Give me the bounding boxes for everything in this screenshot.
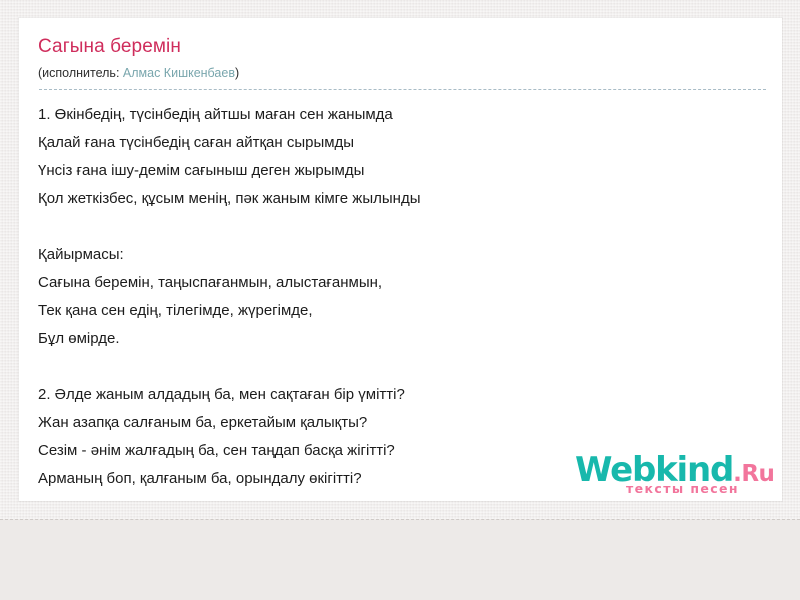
lyrics-line: Жан азапқа салғаным ба, еркетайым қалықт… <box>38 409 766 437</box>
lyrics-line: 2. Әлде жаным алдадың ба, мен сақтаған б… <box>38 381 766 409</box>
lyrics-line: Бұл өмірде. <box>38 325 766 353</box>
performer-line: (исполнитель: Алмас Кишкенбаев) <box>38 65 766 81</box>
lower-background-band <box>0 519 800 600</box>
lyrics-line: Қалай ғана түсінбедің саған айтқан сырым… <box>38 129 766 157</box>
lyrics-line: 1. Өкінбедің, түсінбедің айтшы маған сен… <box>38 101 766 129</box>
lyrics-line: Қол жеткізбес, құсым менің, пәк жаным кі… <box>38 185 766 213</box>
lyrics-page-panel: Сагына беремін (исполнитель: Алмас Кишке… <box>19 18 782 501</box>
lyrics-line: Қайырмасы: <box>38 241 766 269</box>
performer-prefix-label: (исполнитель: <box>38 66 123 80</box>
lyrics-blank-line <box>38 353 766 381</box>
panel-content: Сагына беремін (исполнитель: Алмас Кишке… <box>38 34 766 501</box>
page-title: Сагына беремін <box>38 34 766 60</box>
performer-suffix-label: ) <box>235 66 239 80</box>
site-logo[interactable]: Webkind.Ru тексты песен <box>575 452 771 498</box>
lyrics-line: Сағына беремін, таңыспағанмын, алыстаған… <box>38 269 766 297</box>
logo-tagline: тексты песен <box>626 481 739 496</box>
lyrics-text: 1. Өкінбедің, түсінбедің айтшы маған сен… <box>38 101 766 493</box>
header-divider <box>39 89 766 90</box>
logo-tld-text: .Ru <box>733 461 774 487</box>
lyrics-line: Үнсіз ғана ішу-демім сағыныш деген жырым… <box>38 157 766 185</box>
performer-link[interactable]: Алмас Кишкенбаев <box>123 66 235 80</box>
lyrics-blank-line <box>38 213 766 241</box>
lyrics-line: Тек қана сен едің, тілегімде, жүрегімде, <box>38 297 766 325</box>
